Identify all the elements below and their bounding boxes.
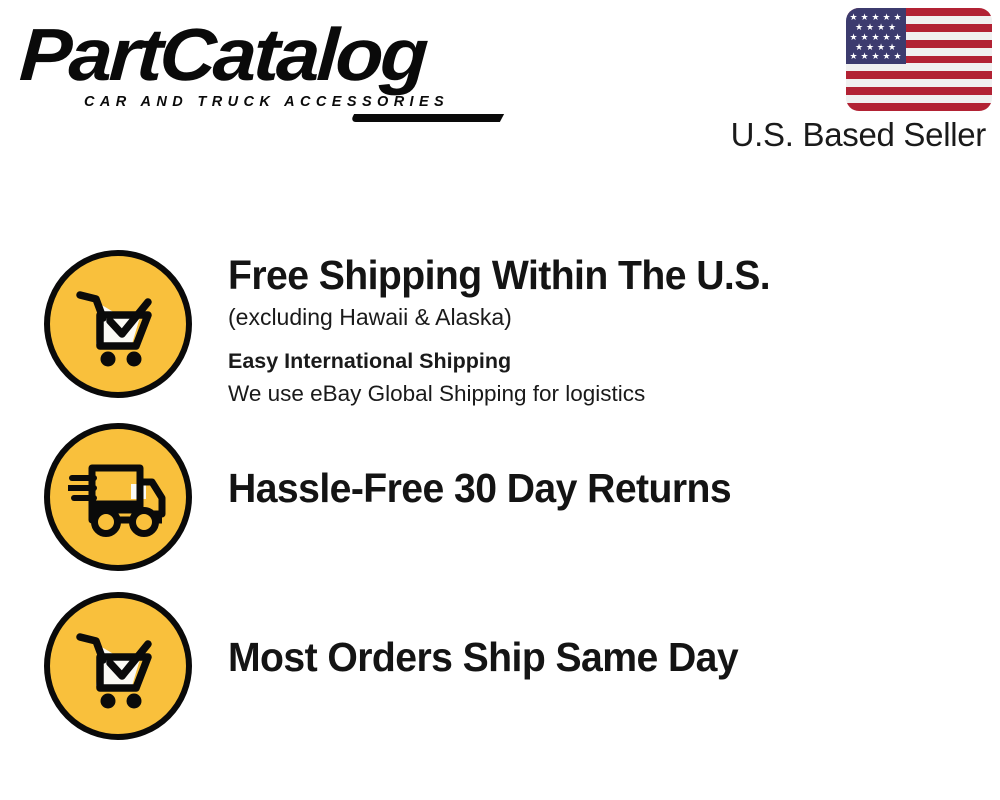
feature-text-block: Hassle-Free 30 Day Returns (192, 423, 984, 513)
feature-row-same-day-ship: Most Orders Ship Same Day (44, 592, 984, 740)
brand-logo[interactable]: PartCatalog CAR AND TRUCK ACCESSORIES (22, 18, 492, 118)
feature-text-block: Free Shipping Within The U.S. (excluding… (192, 250, 984, 410)
flag-canton: ★ ★ ★ ★ ★ ★ ★ ★ ★ ★ ★ ★ ★ ★ ★ ★ ★ ★ ★ ★ (846, 8, 906, 64)
feature-subtitle: (excluding Hawaii & Alaska) (228, 300, 984, 334)
feature-row-free-shipping: Free Shipping Within The U.S. (excluding… (44, 250, 984, 410)
shopping-cart-check-icon (44, 250, 192, 398)
page-header: PartCatalog CAR AND TRUCK ACCESSORIES ★ … (0, 0, 1000, 170)
feature-sub-detail: We use eBay Global Shipping for logistic… (228, 378, 984, 410)
brand-logo-swoop (350, 114, 504, 122)
brand-tagline: CAR AND TRUCK ACCESSORIES (84, 94, 449, 110)
us-based-seller-badge: ★ ★ ★ ★ ★ ★ ★ ★ ★ ★ ★ ★ ★ ★ ★ ★ ★ ★ ★ ★ (692, 8, 992, 153)
delivery-truck-icon (44, 423, 192, 571)
feature-text-block: Most Orders Ship Same Day (192, 592, 984, 682)
feature-title: Free Shipping Within The U.S. (228, 250, 950, 300)
brand-wordmark: PartCatalog (18, 18, 520, 92)
feature-row-returns: Hassle-Free 30 Day Returns (44, 423, 984, 571)
feature-title: Most Orders Ship Same Day (228, 632, 950, 682)
us-based-seller-label: U.S. Based Seller (692, 117, 992, 153)
feature-title: Hassle-Free 30 Day Returns (228, 463, 950, 513)
feature-sub-heading: Easy International Shipping (228, 344, 984, 378)
shopping-cart-check-icon (44, 592, 192, 740)
us-flag-icon: ★ ★ ★ ★ ★ ★ ★ ★ ★ ★ ★ ★ ★ ★ ★ ★ ★ ★ ★ ★ (846, 8, 992, 111)
